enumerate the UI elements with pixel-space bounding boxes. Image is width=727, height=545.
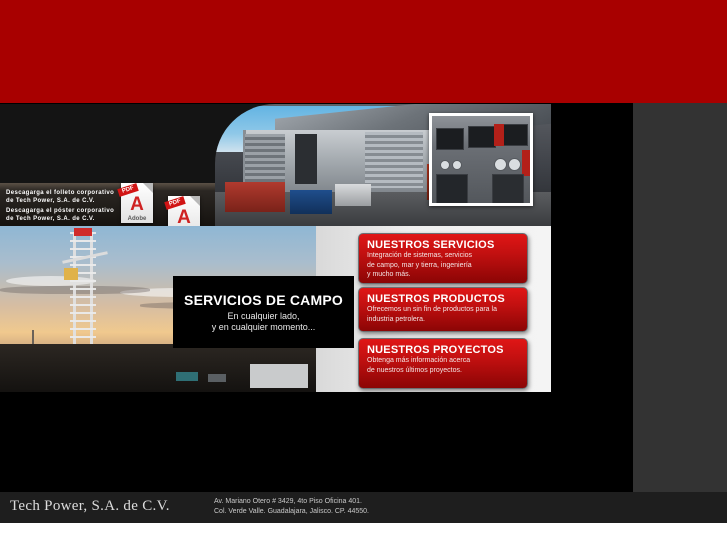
site-truck bbox=[176, 372, 198, 381]
download-poster-line-2: de Tech Power, S.A. de C.V. bbox=[6, 215, 114, 223]
inset-gauge-4 bbox=[508, 158, 521, 171]
download-link-poster[interactable]: Descagarga el póster corporativo de Tech… bbox=[6, 207, 114, 223]
card-nuestros-productos[interactable]: NUESTROS PRODUCTOS Ofrecemos un sin fin … bbox=[358, 287, 528, 332]
card-nuestros-servicios[interactable]: NUESTROS SERVICIOS Integración de sistem… bbox=[358, 233, 528, 284]
footer-address-line-2: Col. Verde Valle. Guadalajara, Jalisco. … bbox=[214, 507, 369, 517]
field-services-subtitle: En cualquier lado, y en cualquier moment… bbox=[212, 311, 316, 333]
inset-red-cloth-2 bbox=[522, 150, 530, 176]
inset-gauge-1 bbox=[440, 160, 450, 170]
pdf-acrobat-glyph-icon: A bbox=[127, 196, 147, 213]
top-red-banner bbox=[0, 0, 727, 103]
hero-louver-vent-left bbox=[245, 134, 285, 182]
pdf-fold-corner-icon bbox=[143, 183, 153, 193]
site-truck bbox=[208, 374, 226, 382]
drilling-derrick bbox=[70, 232, 96, 357]
card-line-2: de campo, mar y tierra, ingeniería bbox=[367, 261, 519, 271]
pdf-icon[interactable]: A PDF Adobe bbox=[121, 183, 153, 223]
card-line-1: Obtenga más información acerca bbox=[367, 356, 519, 366]
pdf-acrobat-glyph-icon: A bbox=[174, 209, 194, 226]
footer-company-name: Tech Power, S.A. de C.V. bbox=[10, 498, 170, 515]
inset-panel-1 bbox=[436, 128, 464, 150]
card-title: NUESTROS PRODUCTOS bbox=[367, 293, 519, 305]
field-services-title: SERVICIOS DE CAMPO bbox=[184, 292, 343, 308]
card-line-1: Integración de sistemas, servicios bbox=[367, 251, 519, 261]
derrick-cab bbox=[64, 268, 78, 280]
hero-inset-photo bbox=[432, 116, 530, 203]
hero-louver-vent-right bbox=[365, 132, 423, 188]
inset-panel-3 bbox=[500, 124, 528, 146]
card-line-2: industria petrolera. bbox=[367, 315, 519, 325]
download-link-folleto[interactable]: Descagarga el folleto corporativo de Tec… bbox=[6, 189, 114, 205]
inset-panel-5 bbox=[492, 174, 524, 203]
hero-equipment-white bbox=[335, 184, 371, 206]
inset-panel-4 bbox=[436, 174, 468, 203]
field-services-line-2: y en cualquier momento... bbox=[212, 322, 316, 333]
card-nuestros-proyectos[interactable]: NUESTROS PROYECTOS Obtenga más informaci… bbox=[358, 338, 528, 389]
inset-gauge-2 bbox=[452, 160, 462, 170]
hero-inset-frame bbox=[429, 113, 533, 206]
card-title: NUESTROS SERVICIOS bbox=[367, 239, 519, 251]
inset-red-cloth-1 bbox=[494, 124, 504, 146]
pdf-fold-corner-icon bbox=[190, 196, 200, 206]
page-root: DEDICADOS A LA EXCELENCIA Por mas de 10 … bbox=[0, 0, 727, 545]
footer-address-line-1: Av. Mariano Otero # 3429, 4to Piso Ofici… bbox=[214, 497, 369, 507]
site-cabin bbox=[250, 364, 308, 388]
inset-panel-2 bbox=[468, 126, 496, 148]
field-services-line-1: En cualquier lado, bbox=[212, 311, 316, 322]
card-line-2: de nuestros últimos proyectos. bbox=[367, 366, 519, 376]
download-poster-line-1: Descagarga el póster corporativo bbox=[6, 207, 114, 215]
derrick-crown bbox=[74, 228, 92, 236]
footer-address: Av. Mariano Otero # 3429, 4to Piso Ofici… bbox=[214, 497, 369, 517]
field-services-banner: SERVICIOS DE CAMPO En cualquier lado, y … bbox=[173, 276, 354, 348]
card-line-1: Ofrecemos un sin fin de productos para l… bbox=[367, 305, 519, 315]
hero-equipment-blue bbox=[290, 190, 332, 214]
page-bottom-whitespace bbox=[0, 523, 727, 545]
card-line-3: y mucho más. bbox=[367, 270, 519, 280]
download-folleto-line-1: Descagarga el folleto corporativo bbox=[6, 189, 114, 197]
inset-gauge-3 bbox=[494, 158, 507, 171]
download-folleto-line-2: de Tech Power, S.A. de C.V. bbox=[6, 197, 114, 205]
hero-door bbox=[295, 134, 317, 184]
card-title: NUESTROS PROYECTOS bbox=[367, 344, 519, 356]
pdf-brand-label: Adobe bbox=[121, 216, 153, 222]
hero-equipment-red bbox=[225, 182, 285, 212]
site-footer: Tech Power, S.A. de C.V. Av. Mariano Ote… bbox=[0, 492, 727, 523]
